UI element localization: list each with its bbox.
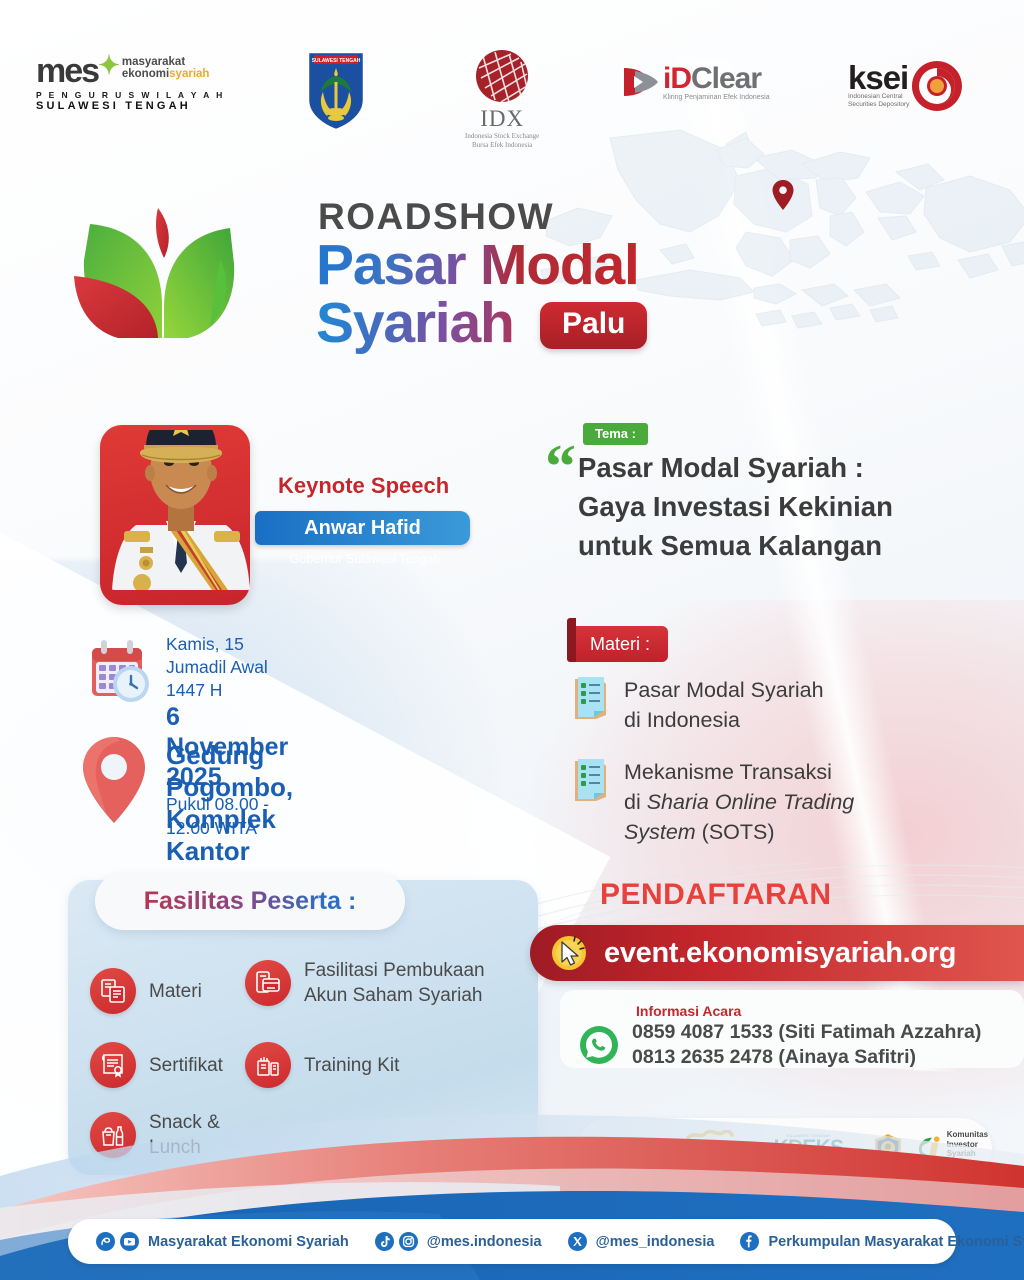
tiktok-icon[interactable] <box>375 1232 394 1251</box>
fasilitas-akun-line-1: Fasilitasi Pembukaan <box>304 958 485 983</box>
mes-sub-line-1: P E N G U R U S W I L A Y A H <box>36 90 225 100</box>
mes-sub-line-2: SULAWESI TENGAH <box>36 100 225 112</box>
materi-2-prefix: di <box>624 790 647 814</box>
materi-2-line-1: Mekanisme Transaksi <box>624 757 984 787</box>
logo-ksei: ksei Indonesian Central Securities Depos… <box>848 60 963 112</box>
syariah-leaf-logo <box>70 198 245 353</box>
fasilitas-label-sertifikat: Sertifikat <box>149 1053 223 1078</box>
materi-1-line-1: Pasar Modal Syariah <box>624 675 984 705</box>
speaker-name-banner: Anwar Hafid <box>255 511 470 545</box>
social-group-x[interactable]: @mes_indonesia <box>568 1232 715 1251</box>
instagram-icon[interactable] <box>399 1232 418 1251</box>
quote-icon: “ <box>545 447 576 487</box>
idx-wordmark: IDX <box>465 106 539 132</box>
ksei-mark <box>911 60 963 112</box>
tema-badge: Tema : <box>583 423 648 445</box>
fasilitas-title-pill: Fasilitas Peserta : <box>95 872 405 930</box>
map-pin-palu-icon <box>772 180 794 210</box>
city-badge: Palu <box>540 302 647 349</box>
tema-line-2: Gaya Investasi Kekinian <box>578 487 1008 526</box>
x-icon[interactable] <box>568 1232 587 1251</box>
idclear-sub: Kliring Penjaminan Efek Indonesia <box>663 94 770 101</box>
speaker-role: Gubernur Sulawesi Tengah <box>265 552 465 566</box>
location-pin-icon <box>80 735 148 832</box>
social-group-mes[interactable]: Masyarakat Ekonomi Syariah <box>96 1232 349 1251</box>
clipboard-icon <box>570 675 610 728</box>
pendaftaran-title: PENDAFTARAN <box>600 878 832 912</box>
ksei-sub-1: Indonesian Central <box>848 93 909 101</box>
ksei-sub-2: Securities Depository <box>848 101 909 109</box>
fasilitas-item-sertifikat: Sertifikat <box>90 1042 223 1088</box>
training-kit-icon <box>245 1042 291 1088</box>
tema-line-3: untuk Semua Kalangan <box>578 526 1008 565</box>
registration-url-banner[interactable]: event.ekonomisyariah.org <box>530 925 1024 981</box>
materi-item-2: Mekanisme Transaksi di Sharia Online Tra… <box>570 757 984 847</box>
mes-tagline: masyarakat ekonomisyariah <box>122 56 210 80</box>
whatsapp-icon <box>578 1024 620 1066</box>
clipboard-icon <box>570 757 610 810</box>
certificate-icon <box>90 1042 136 1088</box>
fasilitas-label-training-kit: Training Kit <box>304 1053 399 1078</box>
materi-item-1: Pasar Modal Syariah di Indonesia <box>570 675 984 735</box>
social-label-facebook: Perkumpulan Masyarakat Ekonomi Syariah <box>768 1234 1024 1250</box>
mes-wordmark: mes✦ <box>36 56 118 87</box>
logo-mes: mes✦ masyarakat ekonomisyariah P E N G U… <box>36 56 225 112</box>
fasilitas-akun-line-2: Akun Saham Syariah <box>304 983 485 1008</box>
logo-idx: IDX Indonesia Stock Exchange Bursa Efek … <box>465 48 539 150</box>
partner-logo-bar: mes✦ masyarakat ekonomisyariah P E N G U… <box>0 48 1024 128</box>
materi-2-emphasis-2: System <box>624 820 696 844</box>
documents-icon <box>90 968 136 1014</box>
contact-numbers: 0859 4087 1533 (Siti Fatimah Azzahra) 08… <box>632 1020 981 1070</box>
materi-1-line-2: di Indonesia <box>624 705 984 735</box>
event-title-block: ROADSHOW Pasar Modal Syariah Palu <box>70 190 630 360</box>
speaker-name: Anwar Hafid <box>255 517 470 540</box>
title-line-2: Syariah <box>316 290 514 356</box>
social-footer-bar: Masyarakat Ekonomi Syariah @mes.indonesi… <box>68 1219 956 1264</box>
tema-text: Pasar Modal Syariah : Gaya Investasi Kek… <box>578 448 1008 565</box>
social-label-mes: Masyarakat Ekonomi Syariah <box>148 1234 349 1250</box>
social-label-x: @mes_indonesia <box>596 1234 715 1250</box>
contact-line-2: 0813 2635 2478 (Ainaya Safitri) <box>632 1045 981 1070</box>
click-cursor-icon <box>548 932 590 974</box>
materi-badge-label: Materi : <box>590 634 650 655</box>
materi-2-suffix: (SOTS) <box>696 820 775 844</box>
threads-icon[interactable] <box>96 1232 115 1251</box>
emblem-text: SULAWESI TENGAH <box>312 58 361 64</box>
ksei-wordmark: ksei <box>848 63 909 93</box>
materi-item-2-text: Mekanisme Transaksi di Sharia Online Tra… <box>624 757 984 847</box>
materi-2-emphasis: Sharia Online Trading <box>647 790 855 814</box>
contact-info-title: Informasi Acara <box>636 1003 741 1019</box>
youtube-icon[interactable] <box>120 1232 139 1251</box>
calendar-clock-icon <box>86 636 152 711</box>
poster-root: mes✦ masyarakat ekonomisyariah P E N G U… <box>0 0 1024 1280</box>
materi-item-1-text: Pasar Modal Syariah di Indonesia <box>624 675 984 735</box>
keynote-speaker-block: Keynote Speech Anwar Hafid Gubernur Sula… <box>100 415 520 615</box>
title-line-1: Pasar Modal <box>316 232 639 298</box>
tema-line-1: Pasar Modal Syariah : <box>578 448 1008 487</box>
idclear-wordmark: iDClear <box>663 62 770 96</box>
registration-url[interactable]: event.ekonomisyariah.org <box>604 937 956 970</box>
account-opening-icon <box>245 960 291 1006</box>
fasilitas-label-materi: Materi <box>149 979 202 1004</box>
social-group-facebook[interactable]: Perkumpulan Masyarakat Ekonomi Syariah <box>740 1232 1024 1251</box>
fasilitas-label-akun: Fasilitasi Pembukaan Akun Saham Syariah <box>304 958 485 1008</box>
idclear-mark <box>622 65 660 99</box>
fasilitas-item-materi: Materi <box>90 968 202 1014</box>
idx-sub-1: Indonesia Stock Exchange <box>465 132 539 141</box>
hijri-date: Kamis, 15 Jumadil Awal 1447 H <box>166 633 288 702</box>
logo-idclear: iDClear Kliring Penjaminan Efek Indonesi… <box>622 62 770 101</box>
social-label-instagram: @mes.indonesia <box>427 1234 542 1250</box>
facebook-icon[interactable] <box>740 1232 759 1251</box>
fasilitas-item-akun: Fasilitasi Pembukaan Akun Saham Syariah <box>245 958 485 1008</box>
logo-sulawesi-tengah-emblem: SULAWESI TENGAH <box>305 48 367 132</box>
speaker-portrait <box>106 385 256 600</box>
materi-badge: Materi : <box>576 626 668 662</box>
contact-line-1: 0859 4087 1533 (Siti Fatimah Azzahra) <box>632 1020 981 1045</box>
idx-sub-2: Bursa Efek Indonesia <box>465 141 539 150</box>
social-group-instagram[interactable]: @mes.indonesia <box>375 1232 542 1251</box>
fasilitas-title: Fasilitas Peserta : <box>95 887 405 916</box>
fasilitas-item-training-kit: Training Kit <box>245 1042 399 1088</box>
venue-line-1: Gedung Pogombo, <box>166 739 293 803</box>
keynote-label: Keynote Speech <box>278 473 449 499</box>
